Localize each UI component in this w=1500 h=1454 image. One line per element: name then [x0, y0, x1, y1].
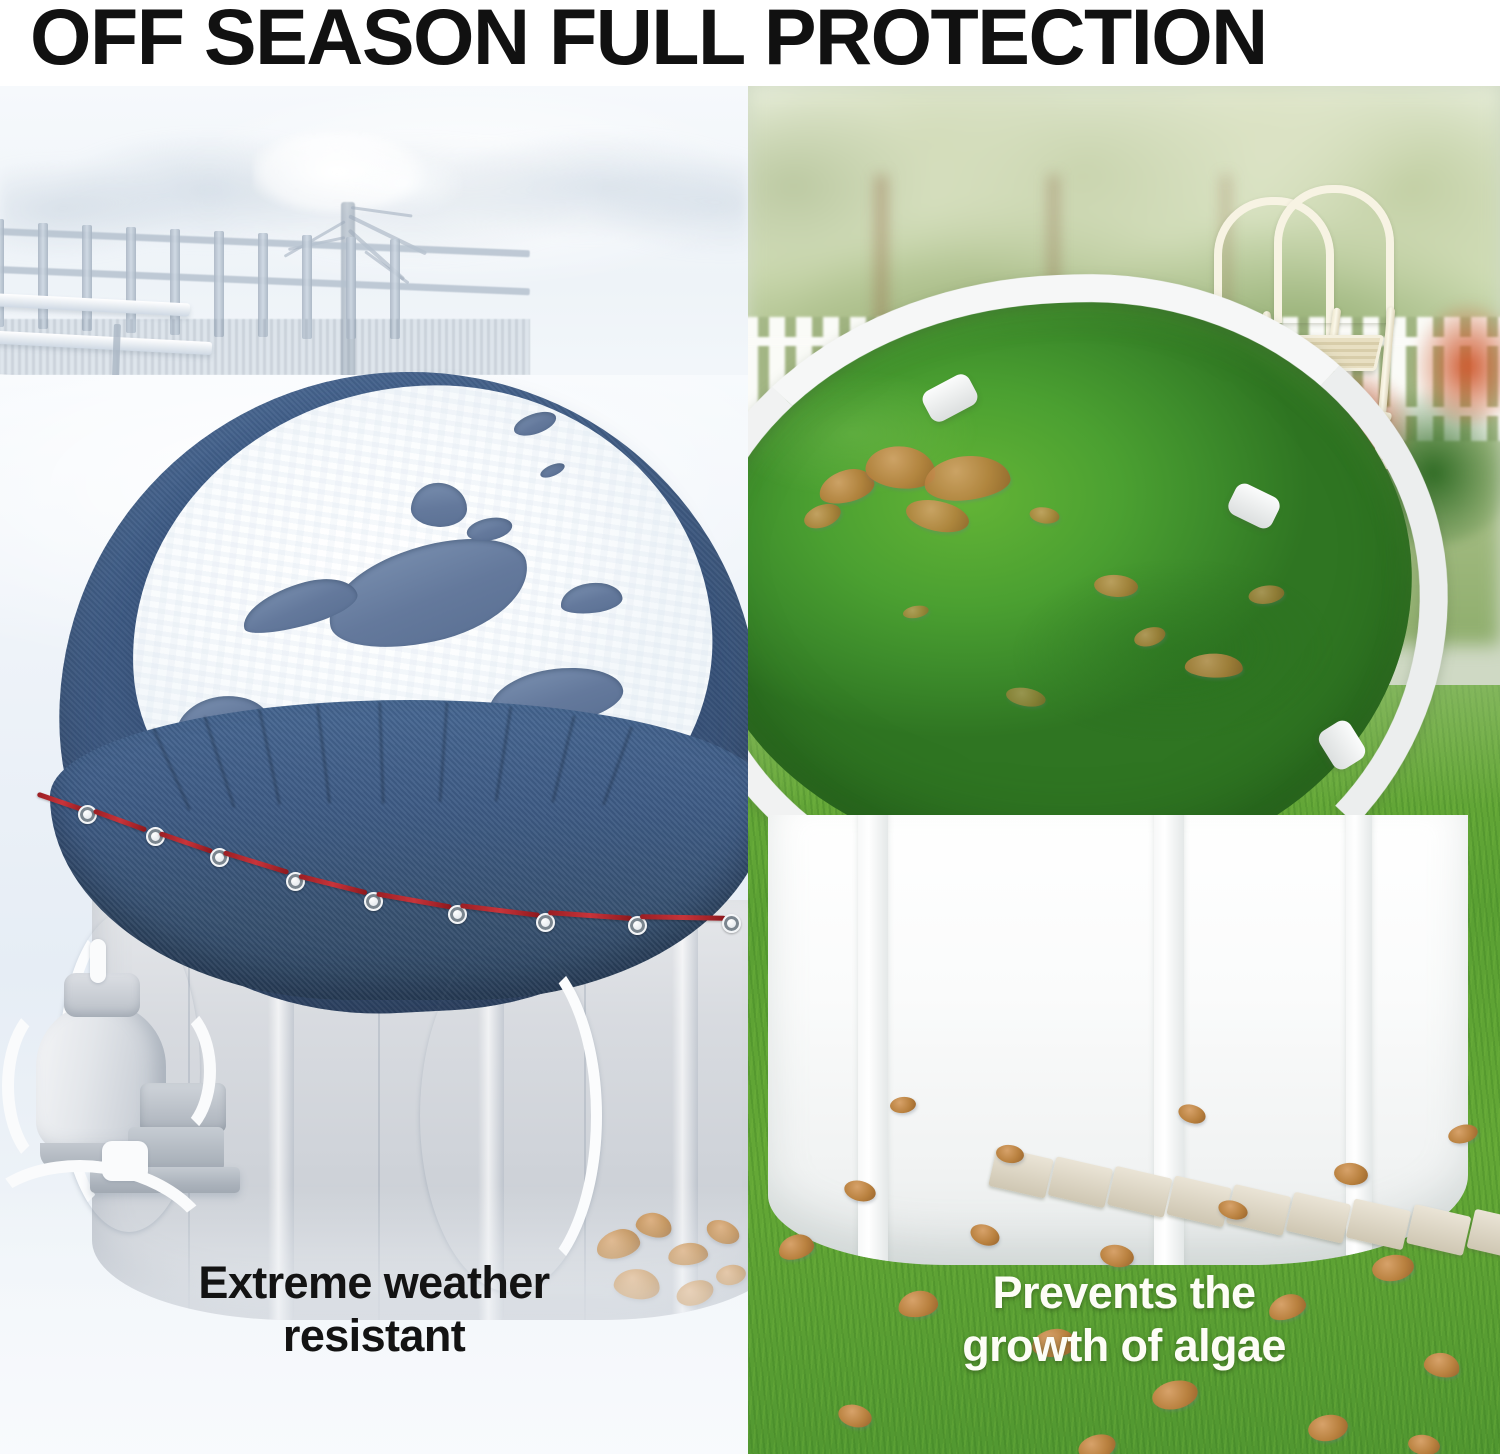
caption-left: Extreme weather resistant: [0, 1256, 748, 1362]
caption-right-line1: Prevents the: [748, 1266, 1500, 1319]
cover-grommet: [536, 913, 555, 932]
caption-left-line1: Extreme weather: [0, 1256, 748, 1309]
cover-grommet: [722, 914, 741, 933]
split-comparison: [0, 85, 1500, 1454]
panel-uncovered-algae-pool: [748, 85, 1500, 1454]
cover-grommet: [78, 805, 97, 824]
promo-image: OFF SEASON FULL PROTECTION: [0, 0, 1500, 1454]
page-title: OFF SEASON FULL PROTECTION: [30, 0, 1485, 80]
above-ground-pool-right: [748, 275, 1500, 1295]
sand-filter-pump-icon: [18, 965, 253, 1235]
caption-right: Prevents the growth of algae: [748, 1266, 1500, 1372]
pool-hose: [420, 940, 602, 1292]
caption-left-line2: resistant: [0, 1309, 748, 1362]
title-band: OFF SEASON FULL PROTECTION: [0, 0, 1500, 86]
panel-winter-covered-pool: [0, 85, 748, 1454]
caption-right-line2: growth of algae: [748, 1319, 1500, 1372]
